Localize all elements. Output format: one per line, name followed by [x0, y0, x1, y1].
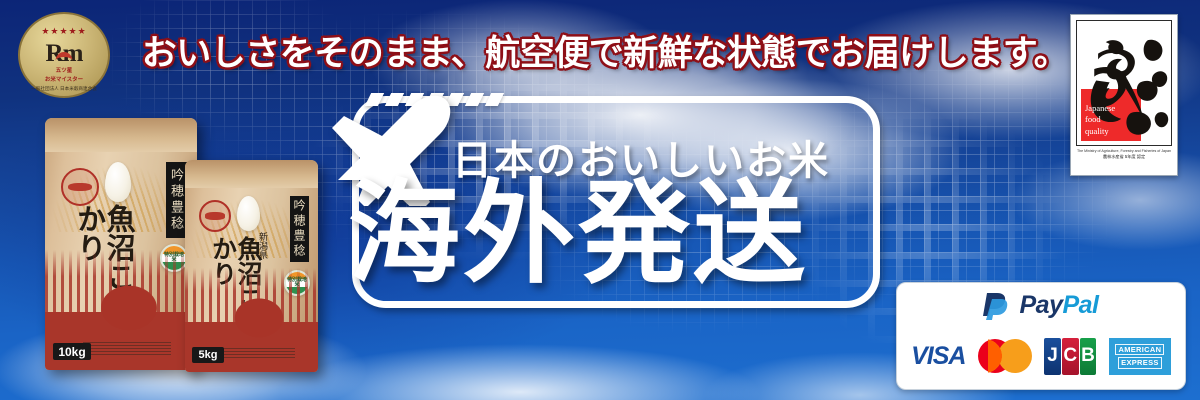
- rice-grain-illustration: [105, 162, 131, 202]
- jas-credit-jp: 農林水産省 5年度 認定: [1076, 154, 1172, 159]
- paypal-row: PayPal: [897, 283, 1185, 327]
- jas-mark-inner: Japanese food quality: [1076, 20, 1172, 146]
- overseas-shipping-banner: ★★★★★ Rm 五ツ星 お米マイスター 一般社団法人 日本米穀商連合会 おいし…: [0, 0, 1200, 400]
- jcb-letter-c: C: [1062, 338, 1079, 375]
- paypal-pay-text: Pay: [1019, 291, 1062, 319]
- bag-fine-print: [83, 342, 171, 356]
- jas-quality-mark: Japanese food quality The Ministry of Ag…: [1070, 14, 1178, 176]
- seal-organization: 一般社団法人 日本米穀商連合会: [31, 86, 97, 92]
- amex-line1: AMERICAN: [1115, 344, 1164, 356]
- paypal-pal-text: Pal: [1062, 291, 1098, 319]
- badge-label: 特別栽培米: [162, 253, 186, 264]
- seal-title-line1: 五ツ星: [56, 68, 73, 75]
- rice-bag-10kg: 吟穂豊稔 魚沼こしひかり 特別栽培米 10kg: [45, 118, 197, 370]
- bag-weight-10kg: 10kg: [53, 343, 91, 360]
- gold-seal-icon: ★★★★★ Rm 五ツ星 お米マイスター 一般社団法人 日本米穀商連合会: [18, 12, 110, 98]
- seal-title-line2: お米マイスター: [45, 77, 83, 84]
- card-brands-row: VISA J C B AMERICAN EXPRESS: [897, 327, 1185, 385]
- jas-en-line1: Japanese: [1085, 103, 1115, 114]
- seal-stars: ★★★★★: [41, 27, 86, 36]
- banner-big-title: 海外発送: [348, 178, 808, 290]
- jas-en-line2: food: [1085, 114, 1115, 125]
- banner-headline: おいしさをそのまま、航空便で新鮮な状態でお届けします。: [190, 24, 1020, 76]
- bag-top-fold: [185, 160, 318, 188]
- certification-stamp: [199, 200, 231, 232]
- bag-weight-5kg: 5kg: [192, 347, 224, 363]
- five-star-rice-meister-seal: ★★★★★ Rm 五ツ星 お米マイスター 一般社団法人 日本米穀商連合会: [18, 12, 110, 98]
- rice-bag-5kg: 吟穂豊稔 新潟県 魚沼こしひかり 特別栽培米 5kg: [185, 160, 318, 372]
- bag-black-label-5kg: 吟穂豊稔: [290, 196, 309, 262]
- amex-icon: AMERICAN EXPRESS: [1109, 338, 1171, 375]
- payment-methods-panel: PayPal VISA J C B AMERICAN EXPRESS: [896, 282, 1186, 390]
- badge-label: 特別栽培米: [286, 278, 308, 289]
- amex-line2: EXPRESS: [1118, 357, 1162, 369]
- certification-stamp: [61, 168, 99, 206]
- visa-icon: VISA: [911, 342, 965, 371]
- bag-black-label-10kg: 吟穂豊稔: [166, 162, 187, 238]
- paypal-wordmark: PayPal: [1019, 291, 1098, 320]
- rice-grain-illustration: [237, 196, 260, 231]
- paypal-icon: [983, 291, 1010, 320]
- bag-fine-print: [219, 348, 295, 360]
- jas-english-text: Japanese food quality: [1085, 103, 1115, 137]
- bag-top-fold: [45, 118, 197, 152]
- jcb-letter-b: B: [1080, 338, 1097, 375]
- jas-en-line3: quality: [1085, 126, 1115, 137]
- jcb-letter-j: J: [1044, 338, 1061, 375]
- mastercard-icon: [978, 339, 1032, 373]
- jcb-icon: J C B: [1044, 338, 1097, 375]
